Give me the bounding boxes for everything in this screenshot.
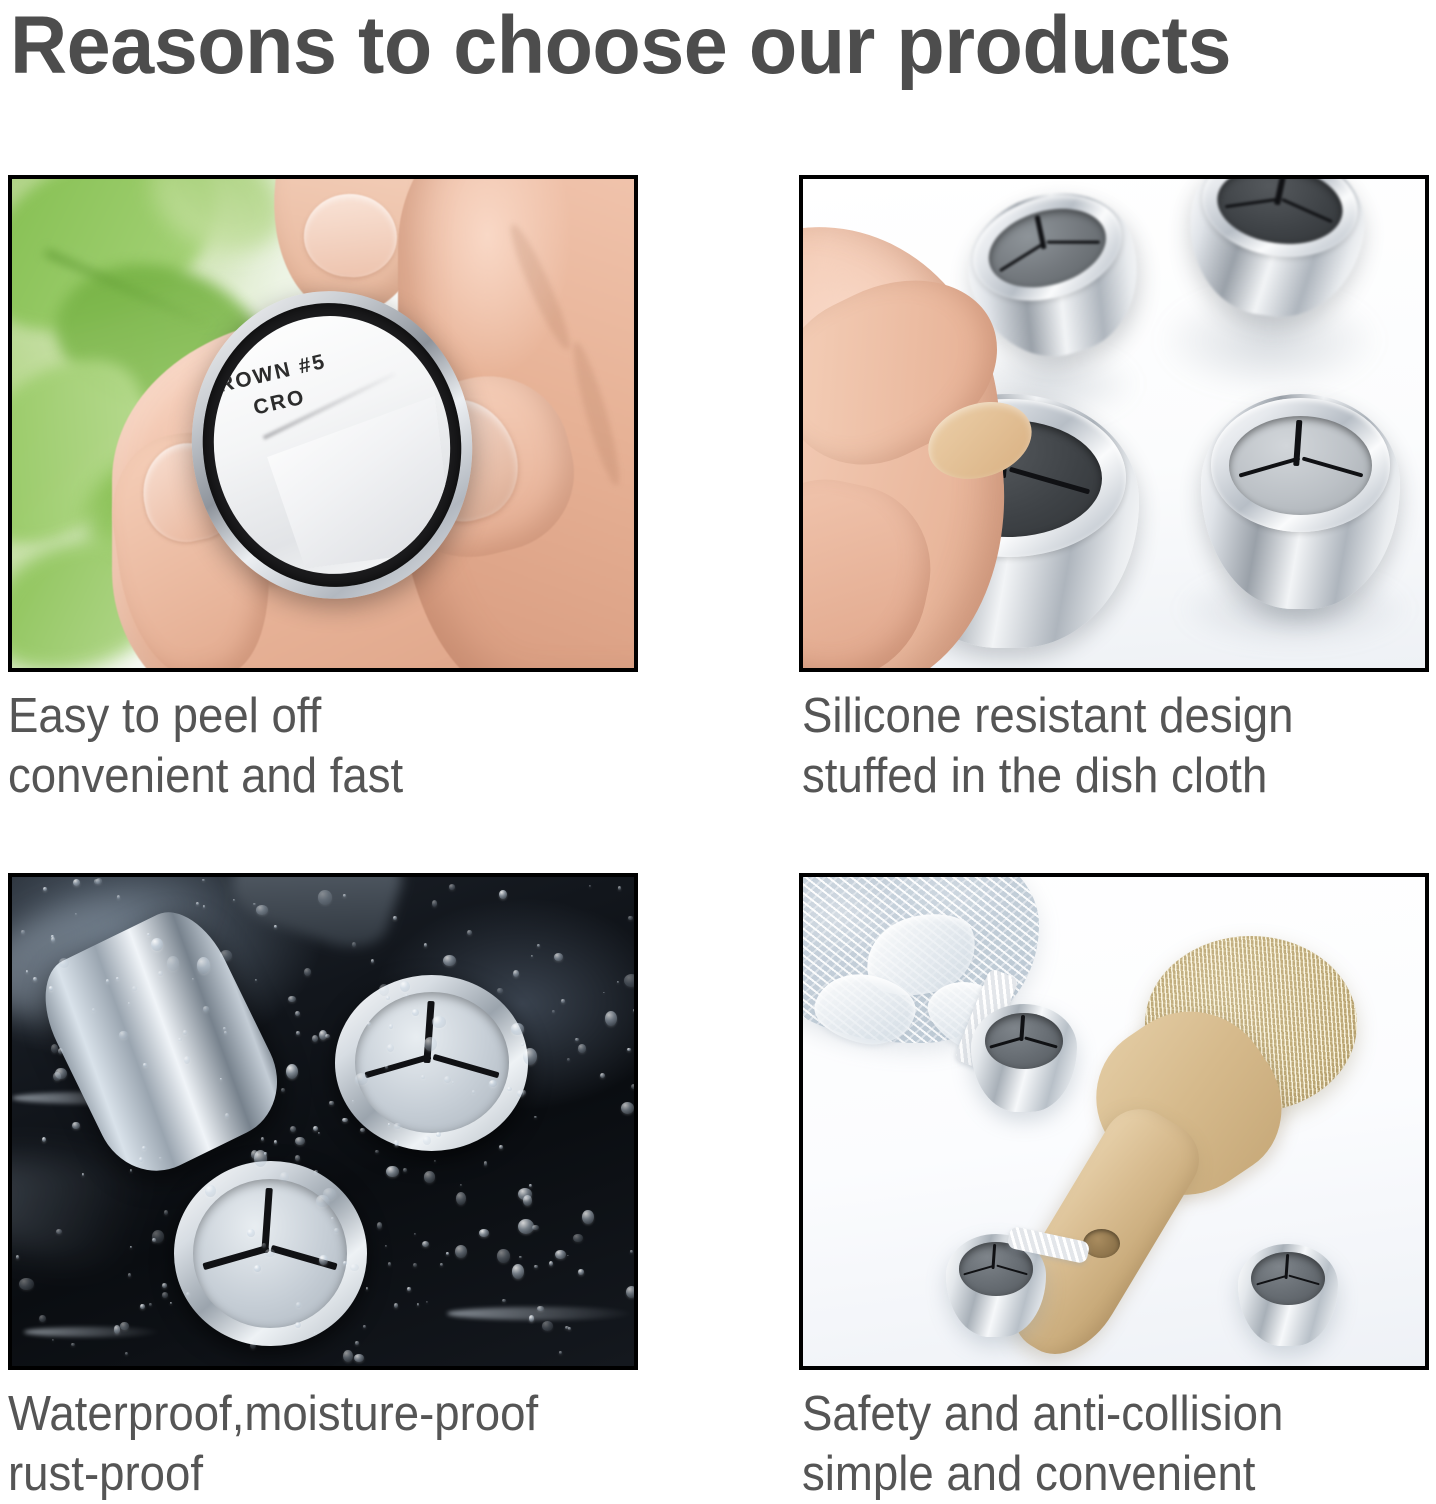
feature-caption-silicone-resistant: Silicone resistant design stuffed in the… (802, 686, 1293, 806)
cross-slit-icon (1229, 416, 1372, 515)
chrome-hook (1178, 179, 1374, 327)
chrome-hook (335, 975, 528, 1151)
caption-line-1: Silicone resistant design (802, 689, 1293, 743)
feature-image-peel-off: ROWN #5 CRO (8, 175, 638, 672)
feature-card-waterproof (8, 873, 638, 1370)
feature-card-safety (799, 873, 1429, 1370)
water-streak (24, 1327, 161, 1337)
cross-slit-icon (355, 992, 509, 1133)
feature-grid: ROWN #5 CRO Easy to peel off convenient … (0, 0, 1436, 1500)
feature-caption-peel-off: Easy to peel off convenient and fast (8, 686, 403, 806)
caption-line-2: simple and convenient (802, 1444, 1283, 1504)
chrome-hook (971, 1004, 1077, 1112)
cross-slit-icon (985, 1013, 1063, 1069)
feature-image-silicone-resistant (799, 175, 1429, 672)
caption-line-1: Easy to peel off (8, 689, 321, 743)
feature-card-silicone-resistant (799, 175, 1429, 672)
silicone-disc (1229, 416, 1372, 515)
caption-line-2: convenient and fast (8, 746, 403, 806)
feature-caption-waterproof: Waterproof,moisture-proof rust-proof (8, 1384, 538, 1504)
caption-line-2: rust-proof (8, 1444, 538, 1504)
silicone-disc (985, 1013, 1063, 1069)
caption-line-1: Safety and anti-collision (802, 1387, 1283, 1441)
silicone-disc (355, 992, 509, 1133)
feature-image-waterproof (8, 873, 638, 1370)
chrome-hook (1201, 394, 1400, 609)
feature-caption-safety: Safety and anti-collision simple and con… (802, 1384, 1283, 1504)
silicone-disc (1251, 1252, 1325, 1305)
feature-card-peel-off: ROWN #5 CRO (8, 175, 638, 672)
feature-image-safety (799, 873, 1429, 1370)
caption-line-1: Waterproof,moisture-proof (8, 1387, 538, 1441)
cross-slit-icon (1251, 1252, 1325, 1305)
caption-line-2: stuffed in the dish cloth (802, 746, 1293, 806)
chrome-hook (1238, 1244, 1338, 1347)
